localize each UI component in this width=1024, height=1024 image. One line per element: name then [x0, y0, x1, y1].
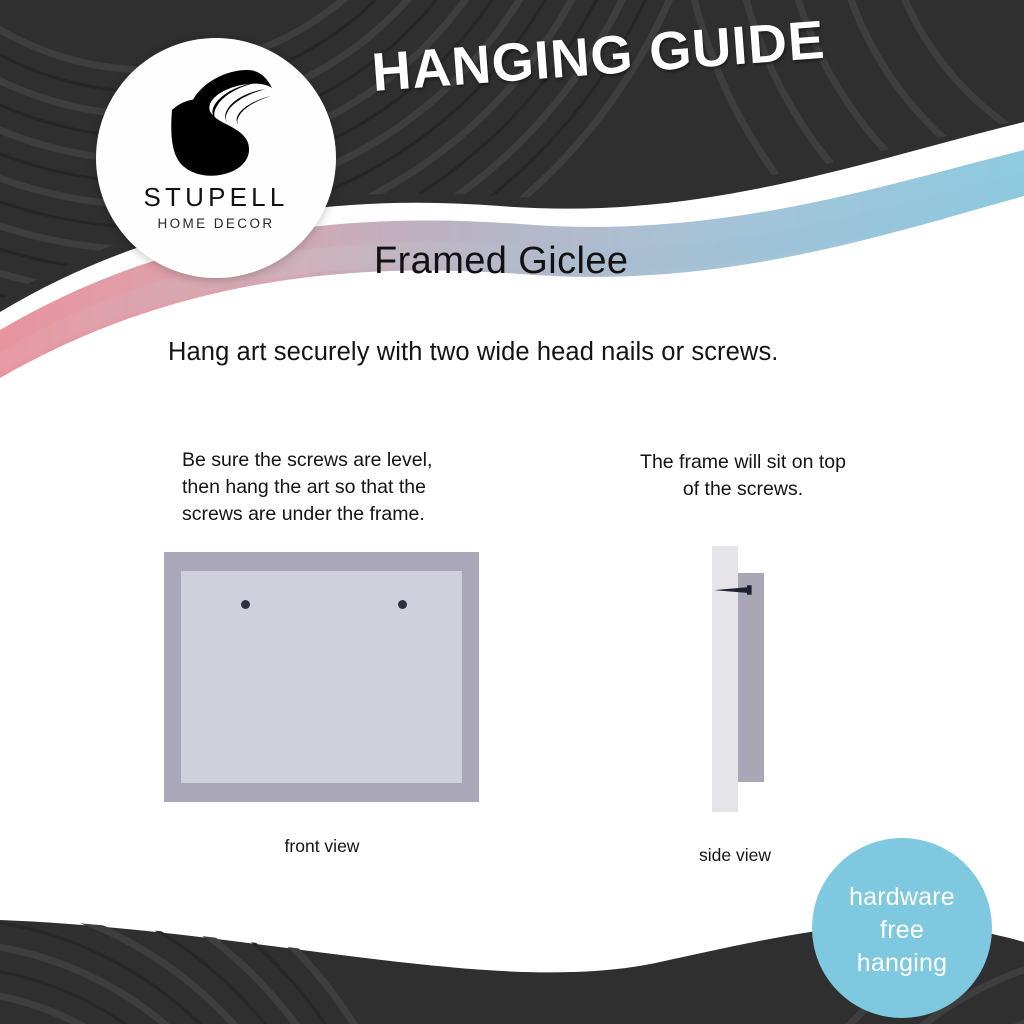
side-view-frame-bar	[738, 573, 764, 782]
caption-line: then hang the art so that the	[182, 474, 482, 501]
front-view-mat-area	[181, 571, 462, 783]
front-view-label: front view	[222, 836, 422, 857]
side-view-frame-diagram	[704, 546, 776, 814]
promo-badge-line: hardware	[849, 881, 955, 914]
hanging-guide-page: STUPELL HOME DECOR HANGING GUIDE Framed …	[0, 0, 1024, 1024]
stupell-s-swoosh-icon	[154, 62, 278, 180]
caption-line: Be sure the screws are level,	[182, 447, 482, 474]
side-view-label: side view	[652, 845, 818, 866]
caption-line: of the screws.	[613, 476, 873, 503]
side-view-caption: The frame will sit on top of the screws.	[613, 449, 873, 503]
main-instruction: Hang art securely with two wide head nai…	[168, 338, 888, 367]
brand-logo-badge: STUPELL HOME DECOR	[96, 38, 336, 278]
product-name: Framed Giclee	[374, 240, 628, 283]
promo-badge-line: hanging	[857, 947, 947, 980]
caption-line: The frame will sit on top	[613, 449, 873, 476]
promo-badge-line: free	[880, 914, 924, 947]
nail-screw-icon	[714, 585, 758, 595]
brand-name: STUPELL	[143, 184, 288, 210]
promo-badge: hardware free hanging	[812, 838, 992, 1018]
screw-dot-left-icon	[241, 600, 250, 609]
screw-dot-right-icon	[398, 600, 407, 609]
front-view-caption: Be sure the screws are level, then hang …	[182, 447, 482, 528]
brand-tagline: HOME DECOR	[157, 217, 274, 231]
page-title: HANGING GUIDE	[370, 9, 827, 104]
front-view-frame-diagram	[164, 552, 479, 802]
caption-line: screws are under the frame.	[182, 501, 482, 528]
